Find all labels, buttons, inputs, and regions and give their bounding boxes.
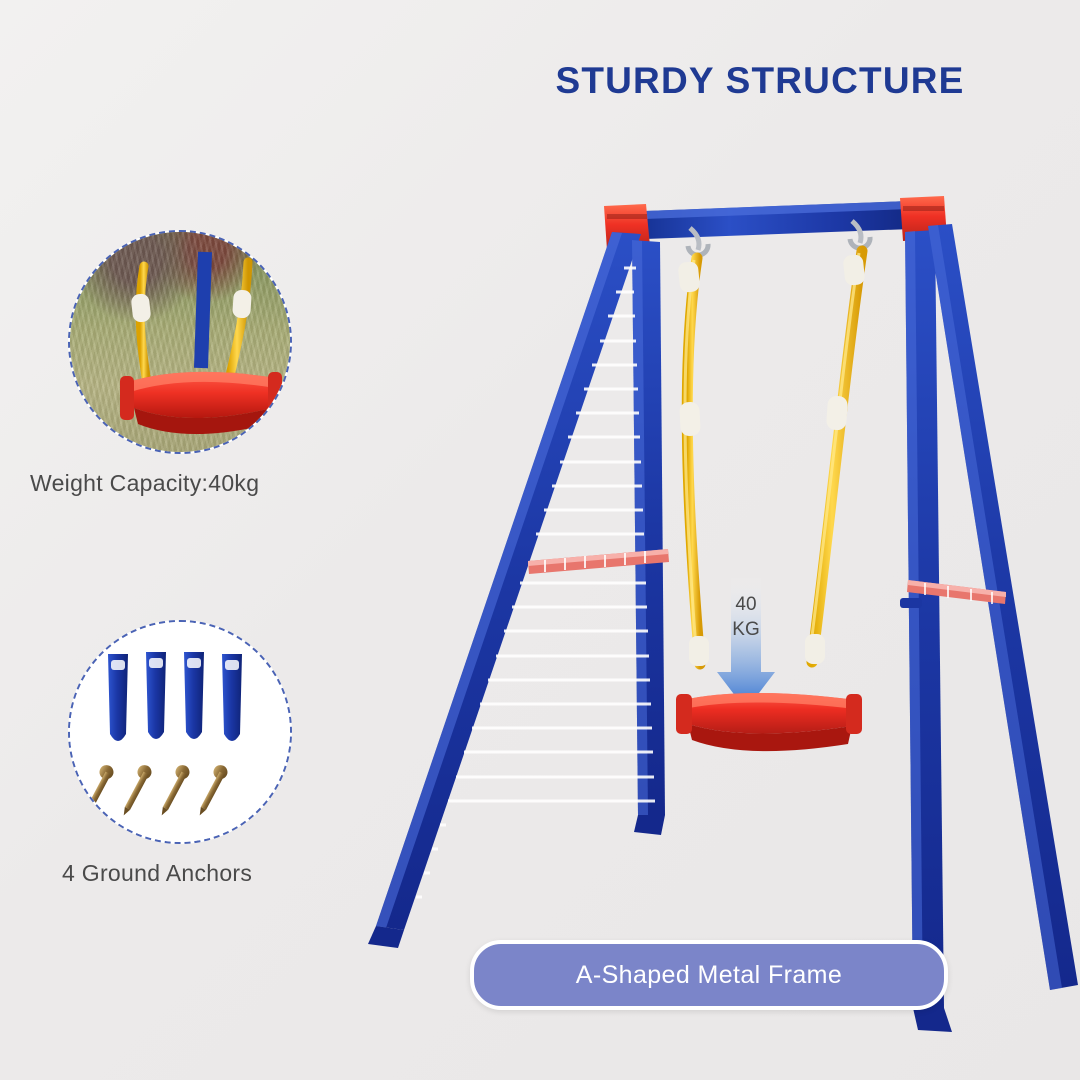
- frame-type-label: A-Shaped Metal Frame: [470, 940, 948, 1010]
- right-rear-leg: [928, 224, 1078, 990]
- page-title: STURDY STRUCTURE: [470, 60, 1050, 102]
- feature-image-ground-anchors: [68, 620, 292, 844]
- top-beam: [617, 200, 938, 240]
- left-front-leg: [368, 232, 641, 948]
- rope-beads-photo: [131, 289, 252, 322]
- ground-anchors-content: [70, 622, 290, 842]
- load-value: 40: [716, 592, 776, 617]
- feature-caption-weight-capacity: Weight Capacity:40kg: [30, 470, 350, 497]
- swing-seat: [676, 693, 862, 751]
- load-unit: KG: [716, 617, 776, 642]
- feature-caption-ground-anchors: 4 Ground Anchors: [62, 860, 382, 887]
- load-indicator: 40 KG: [716, 592, 776, 642]
- right-front-leg: [905, 230, 952, 1032]
- anchor-stakes: [108, 652, 242, 741]
- swing-set-illustration: [0, 0, 1080, 1080]
- anchor-screws: [78, 763, 230, 818]
- frame-type-label-text: A-Shaped Metal Frame: [576, 961, 842, 990]
- seat-photo-content: [70, 232, 290, 452]
- product-infographic: 40 KG STURDY STRUCTURE: [0, 0, 1080, 1080]
- feature-image-weight-capacity: [68, 230, 292, 454]
